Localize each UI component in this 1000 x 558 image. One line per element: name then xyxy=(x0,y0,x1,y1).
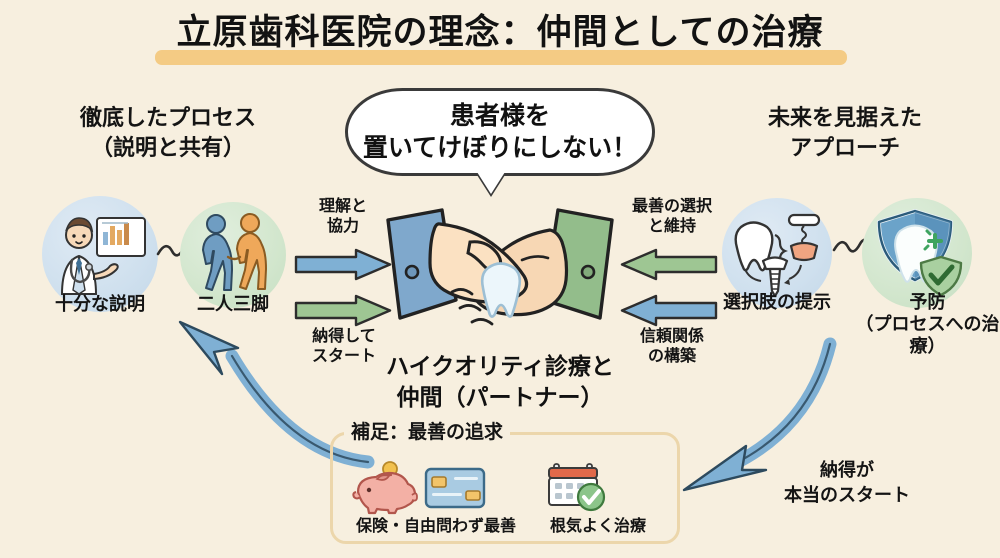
infographic-canvas: 立原歯科医院の理念：仲間としての治療 徹底したプロセス （説明と共有） 未来を見… xyxy=(0,0,1000,558)
speech-bubble-tail-icon xyxy=(477,172,505,194)
icon-label-presenting-options: 選択肢の提示 xyxy=(707,292,847,314)
supplement-legend: 補足：最善の追求 xyxy=(344,420,510,444)
calendar-check-icon xyxy=(546,460,610,514)
left-section-heading: 徹底したプロセス （説明と共有） xyxy=(18,104,318,164)
credit-card-icon xyxy=(424,466,486,510)
loop-arrow-label-real-start: 納得が 本当のスタート xyxy=(752,458,942,508)
shield-tooth-check-icon xyxy=(869,205,965,301)
speech-bubble-text: 患者様を 置いてけぼりにしない！ xyxy=(363,100,637,164)
supplement-item-label-best-regardless: 保険・自由問わず最善 xyxy=(336,516,536,536)
page-title-wrapper: 立原歯科医院の理念：仲間としての治療 xyxy=(0,8,1000,58)
arrow-label-best-choice-maintenance: 最善の選択 と維持 xyxy=(612,196,732,236)
arrow-left-blue-trust xyxy=(618,294,718,328)
handshake-with-tooth-icon xyxy=(382,196,618,356)
right-section-heading: 未来を見据えた アプローチ xyxy=(700,104,990,164)
doctor-presenting-chart-icon xyxy=(48,202,152,306)
icon-label-three-legged-race: 二人三脚 xyxy=(173,294,293,316)
tooth-implant-options-icon xyxy=(729,205,825,301)
two-people-walking-icon xyxy=(187,209,279,301)
icon-circle-two-people xyxy=(180,202,286,308)
supplement-item-label-patient-treatment: 根気よく治療 xyxy=(528,516,668,536)
arrow-left-green-best-choice xyxy=(618,248,718,282)
icon-label-sufficient-explanation: 十分な説明 xyxy=(30,294,170,316)
piggy-bank-icon xyxy=(352,462,418,514)
speech-bubble: 患者様を 置いてけぼりにしない！ xyxy=(345,88,655,176)
arrow-right-blue-understanding xyxy=(294,248,394,282)
page-title: 立原歯科医院の理念：仲間としての治療 xyxy=(0,8,1000,58)
